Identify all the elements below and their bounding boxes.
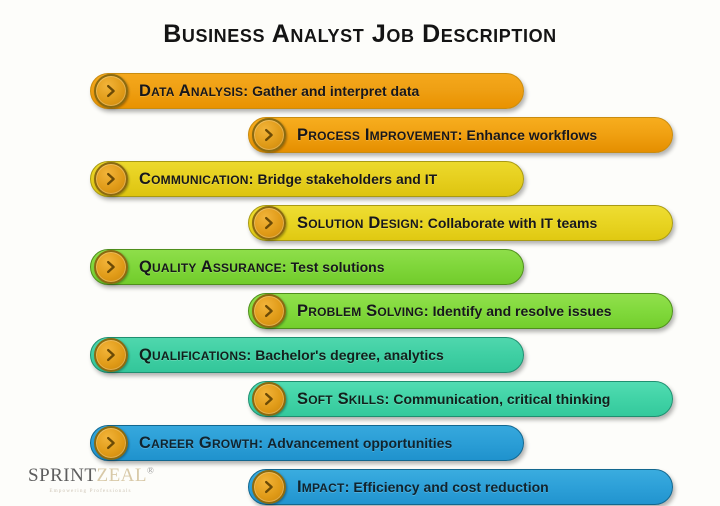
bar-separator: : [419, 216, 428, 232]
bar-description: Enhance workflows [467, 127, 598, 143]
logo-wordmark: SPRINTZEAL® [28, 466, 153, 485]
bar-description: Communication, critical thinking [393, 391, 610, 407]
bar-item[interactable]: Process Improvement: Enhance workflows [248, 117, 673, 153]
chevron-right-icon [94, 250, 128, 284]
bar-term: Problem Solving [297, 302, 424, 320]
bar-label: Process Improvement: Enhance workflows [297, 127, 597, 144]
bar-description: Identify and resolve issues [433, 303, 612, 319]
bar-term: Qualifications [139, 346, 246, 364]
bar-label: Communication: Bridge stakeholders and I… [139, 171, 437, 188]
bar-term: Impact [297, 478, 345, 496]
bar-term: Career Growth [139, 434, 258, 452]
bar-label: Problem Solving: Identify and resolve is… [297, 303, 612, 320]
bar-item[interactable]: Soft Skills: Communication, critical thi… [248, 381, 673, 417]
logo-text-sprint: SPRINT [28, 465, 96, 486]
chevron-right-icon [252, 470, 286, 504]
bar-description: Bachelor's degree, analytics [255, 347, 444, 363]
bar-item[interactable]: Qualifications: Bachelor's degree, analy… [90, 337, 524, 373]
bar-separator: : [458, 128, 467, 144]
bar-item[interactable]: Problem Solving: Identify and resolve is… [248, 293, 673, 329]
bar-description: Test solutions [291, 259, 385, 275]
bar-label: Solution Design: Collaborate with IT tea… [297, 215, 597, 232]
chevron-right-icon [94, 74, 128, 108]
bar-item[interactable]: Solution Design: Collaborate with IT tea… [248, 205, 673, 241]
bar-description: Collaborate with IT teams [428, 215, 598, 231]
bar-description: Gather and interpret data [252, 83, 419, 99]
chevron-right-icon [252, 118, 286, 152]
bar-label: Career Growth: Advancement opportunities [139, 435, 452, 452]
chevron-right-icon [252, 382, 286, 416]
chevron-right-icon [94, 338, 128, 372]
bar-separator: : [258, 436, 267, 452]
bar-item[interactable]: Career Growth: Advancement opportunities [90, 425, 524, 461]
bar-separator: : [243, 84, 252, 100]
bar-term: Process Improvement [297, 126, 458, 144]
chevron-right-icon [94, 426, 128, 460]
bar-description: Bridge stakeholders and IT [257, 171, 437, 187]
bar-label: Qualifications: Bachelor's degree, analy… [139, 347, 444, 364]
bar-description: Advancement opportunities [267, 435, 452, 451]
logo-text-zeal: ZEAL [96, 465, 147, 486]
bar-term: Communication [139, 170, 249, 188]
chevron-right-icon [94, 162, 128, 196]
chevron-right-icon [252, 294, 286, 328]
bar-term: Quality Assurance [139, 258, 282, 276]
bar-separator: : [424, 304, 433, 320]
bar-item[interactable]: Communication: Bridge stakeholders and I… [90, 161, 524, 197]
logo-registered-mark: ® [147, 466, 154, 476]
bar-label: Soft Skills: Communication, critical thi… [297, 391, 610, 408]
bar-item[interactable]: Data Analysis: Gather and interpret data [90, 73, 524, 109]
bar-label: Impact: Efficiency and cost reduction [297, 479, 549, 496]
sprintzeal-logo: SPRINTZEAL® Empowering Professionals [28, 466, 153, 494]
bar-term: Soft Skills [297, 390, 384, 408]
infographic-canvas: Business Analyst Job Description Data An… [0, 0, 720, 506]
bar-separator: : [246, 348, 255, 364]
bar-label: Quality Assurance: Test solutions [139, 259, 385, 276]
bar-description: Efficiency and cost reduction [353, 479, 548, 495]
bar-term: Solution Design [297, 214, 419, 232]
bar-separator: : [384, 392, 393, 408]
chevron-right-icon [252, 206, 286, 240]
bar-label: Data Analysis: Gather and interpret data [139, 83, 419, 100]
bar-item[interactable]: Impact: Efficiency and cost reduction [248, 469, 673, 505]
logo-tagline: Empowering Professionals [28, 488, 153, 494]
bar-item[interactable]: Quality Assurance: Test solutions [90, 249, 524, 285]
bar-term: Data Analysis [139, 82, 243, 100]
bar-separator: : [282, 260, 291, 276]
page-title: Business Analyst Job Description [0, 20, 720, 49]
